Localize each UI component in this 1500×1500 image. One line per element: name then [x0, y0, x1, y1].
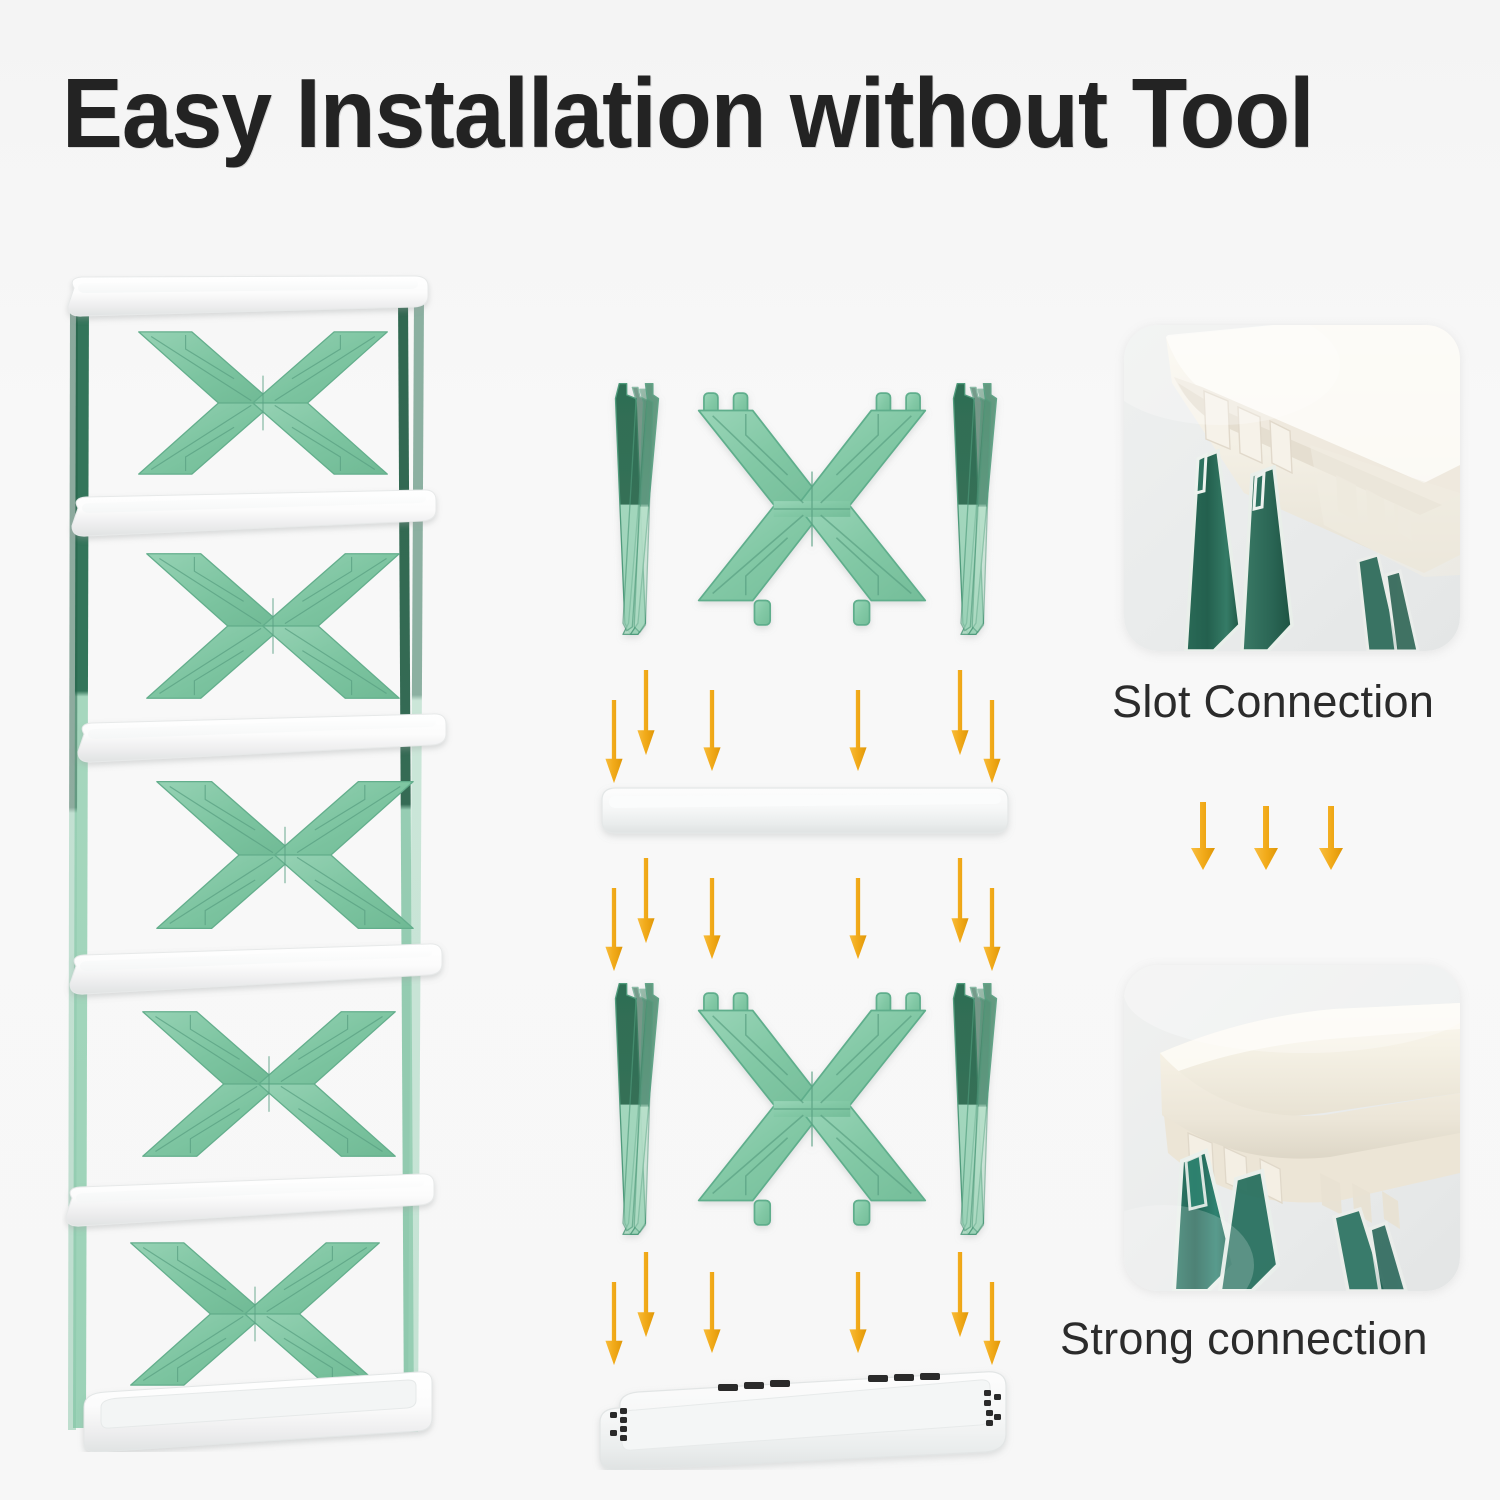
arrow-row-bottom [605, 1252, 1000, 1365]
shelf-front-posts [68, 294, 89, 1430]
exploded-assembly-diagram [580, 330, 1030, 1460]
shelf-board-part [602, 788, 1008, 833]
page-title: Easy Installation without Tool [62, 62, 1313, 165]
shelf-tiers [131, 332, 413, 1385]
infographic-canvas: Easy Installation without Tool [0, 0, 1500, 1500]
shelf-back-posts [398, 294, 424, 1432]
part-row-bottom [615, 984, 996, 1235]
caption-slot-connection: Slot Connection [1112, 676, 1434, 728]
assembled-shelf-unit [62, 272, 482, 1442]
slot-connection-photo [1124, 325, 1460, 651]
part-row-top [615, 384, 996, 635]
base-tray-part [600, 1372, 1006, 1470]
photo-strong-connection [1124, 965, 1460, 1291]
strong-connection-photo [1124, 965, 1460, 1291]
arrow-row-top [605, 670, 1000, 783]
photo-slot-connection [1124, 325, 1460, 651]
caption-strong-connection: Strong connection [1060, 1313, 1428, 1365]
arrow-row-middle [605, 858, 1000, 971]
side-brace-right-bottom [953, 984, 996, 1235]
exploded-svg [580, 330, 1030, 1470]
x-brace-bottom [699, 993, 926, 1225]
side-brace-right-top [953, 384, 996, 635]
mini-arrow-row [1188, 800, 1358, 872]
shelf-svg [62, 272, 482, 1452]
side-brace-left-bottom [615, 984, 658, 1235]
side-brace-left-top [615, 384, 658, 635]
mini-arrows-svg [1188, 800, 1358, 872]
x-brace-top [699, 393, 926, 625]
